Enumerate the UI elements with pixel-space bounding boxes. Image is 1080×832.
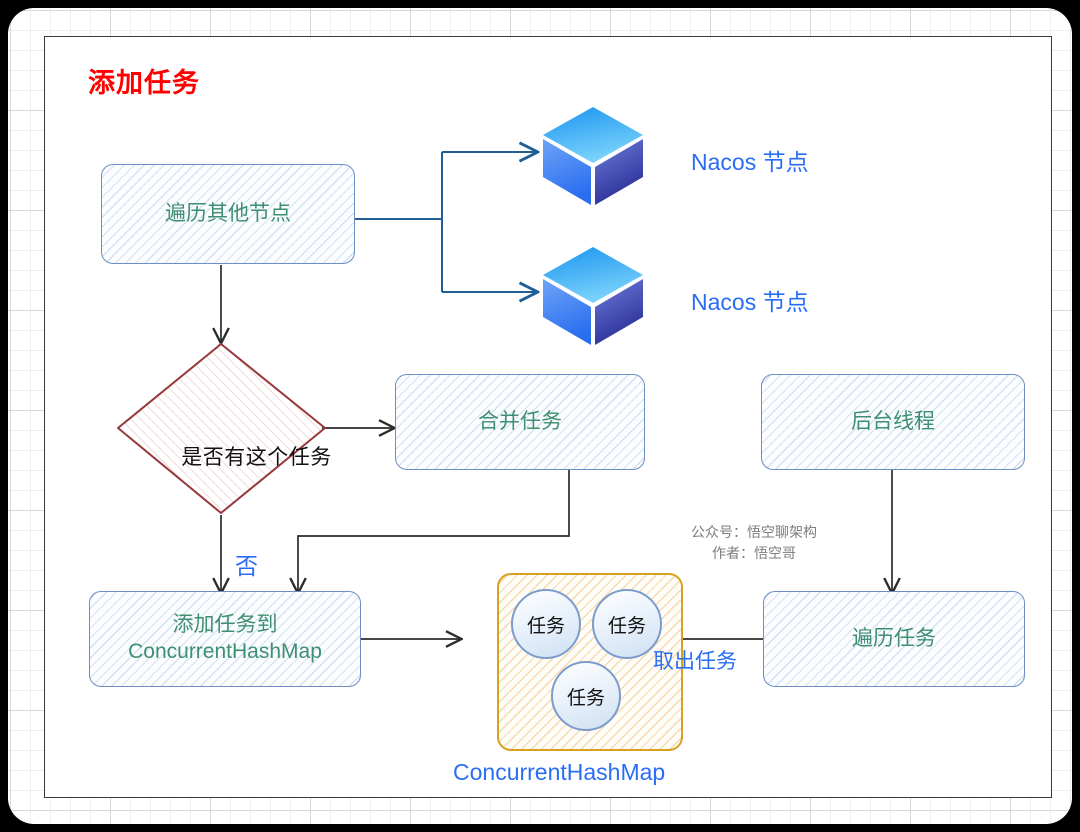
task-circle[interactable]: 任务 <box>511 589 581 659</box>
node-label: 遍历任务 <box>852 626 936 653</box>
node-label-line2: ConcurrentHashMap <box>128 639 322 666</box>
screenshot-root: 添加任务 <box>0 0 1080 832</box>
edge-label-no: 否 <box>235 547 258 581</box>
node-decision-has-task[interactable]: 是否有这个任务 <box>155 377 358 535</box>
node-label-line1: 添加任务到 <box>128 612 322 639</box>
concurrenthashmap-caption: ConcurrentHashMap <box>453 759 665 786</box>
nacos-node-1-label: Nacos 节点 <box>691 143 809 177</box>
watermark-line-1: 公众号：悟空聊架构 <box>649 522 859 543</box>
nacos-node-2-cube-icon <box>539 243 647 349</box>
edge-label-take-task: 取出任务 <box>653 645 737 675</box>
node-merge-task[interactable]: 合并任务 <box>395 374 645 470</box>
nacos-node-1-cube-icon <box>539 103 647 209</box>
nacos-node-2-label: Nacos 节点 <box>691 283 809 317</box>
node-traverse-tasks[interactable]: 遍历任务 <box>763 591 1025 687</box>
edge-traverse-to-nacos <box>355 152 536 292</box>
task-circle[interactable]: 任务 <box>592 589 662 659</box>
page-title: 添加任务 <box>88 61 200 100</box>
decision-label: 是否有这个任务 <box>155 377 358 535</box>
diagram-canvas: 添加任务 <box>44 36 1052 798</box>
node-background-thread[interactable]: 后台线程 <box>761 374 1025 470</box>
watermark: 公众号：悟空聊架构 作者：悟空哥 <box>649 522 859 564</box>
grid-background-panel: 添加任务 <box>8 8 1072 824</box>
node-label: 后台线程 <box>851 409 935 436</box>
node-label: 合并任务 <box>478 409 562 436</box>
node-traverse-other-nodes[interactable]: 遍历其他节点 <box>101 164 355 264</box>
task-circle[interactable]: 任务 <box>551 661 621 731</box>
node-label: 遍历其他节点 <box>165 201 291 228</box>
node-add-task-to-concurrenthashmap[interactable]: 添加任务到 ConcurrentHashMap <box>89 591 361 687</box>
watermark-line-2: 作者：悟空哥 <box>649 543 859 564</box>
